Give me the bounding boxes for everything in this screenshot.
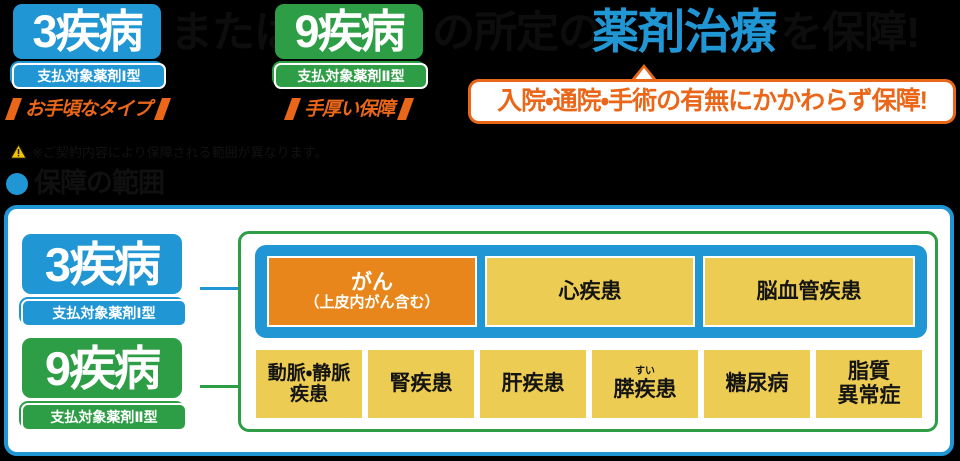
diagram-badge-nine-unit: 疾病 bbox=[69, 345, 159, 392]
disease-cell-artery-vein-main: 動脈・静脈 bbox=[268, 363, 350, 384]
headline-tail-before: の所定の bbox=[432, 12, 600, 55]
headline-pill-nine: 支払対象薬剤Ⅱ型 bbox=[274, 63, 428, 89]
disease-cell-kidney-main: 腎疾患 bbox=[390, 372, 453, 396]
headline-caption-three: お手頃なタイプ bbox=[8, 96, 168, 122]
headline-badge-three-unit: 疾病 bbox=[56, 9, 142, 54]
headline-caption-nine: 手厚い保障 bbox=[278, 96, 420, 122]
disease-cell-cerebrovascular: 脳血管疾患 bbox=[703, 256, 915, 327]
disease-cell-pancreas-ruby: すい bbox=[635, 367, 655, 377]
slash-right-icon bbox=[154, 98, 171, 120]
slash-right-icon bbox=[397, 98, 414, 120]
disease-cell-kidney: 腎疾患 bbox=[368, 350, 474, 418]
section-title: 保障の範囲 bbox=[34, 170, 164, 197]
callout-box: 入院・通院・手術の有無にかかわらず保障! bbox=[468, 79, 956, 124]
disease-cell-diabetes-main: 糖尿病 bbox=[726, 372, 789, 396]
disease-cell-diabetes: 糖尿病 bbox=[704, 350, 810, 418]
disease-cell-pancreas: すい 膵疾患 bbox=[592, 350, 698, 418]
bullet-icon bbox=[6, 173, 28, 195]
disease-cell-liver: 肝疾患 bbox=[480, 350, 586, 418]
diagram-badge-nine-number: 9 bbox=[45, 345, 69, 392]
headline-caption-nine-label: 手厚い保障 bbox=[304, 100, 394, 119]
headline-badge-three: 3疾病 bbox=[13, 4, 161, 59]
headline-pill-three-label: 支払対象薬剤Ⅰ型 bbox=[37, 69, 140, 83]
headline-caption-three-label: お手頃なタイプ bbox=[25, 100, 151, 119]
disease-cell-artery-vein-sub: 疾患 bbox=[290, 384, 328, 405]
diagram-pill-three-label: 支払対象薬剤Ⅰ型 bbox=[52, 306, 155, 320]
infographic-root: 3疾病 支払対象薬剤Ⅰ型 お手頃なタイプ または 9疾病 支払対象薬剤Ⅱ型 手厚… bbox=[0, 0, 960, 461]
warning-icon bbox=[10, 144, 27, 159]
headline-tail-after: を保障! bbox=[780, 12, 919, 55]
diagram-badge-nine: 9疾病 bbox=[22, 338, 182, 398]
disease-cell-dyslipidemia-sub: 異常症 bbox=[838, 384, 901, 408]
headline-badge-nine-unit: 疾病 bbox=[318, 9, 404, 54]
note-line: ※ご契約内容により保障される範囲が異なります。 bbox=[10, 142, 327, 161]
disease-cell-cancer: がん （上皮内がん含む） bbox=[267, 256, 477, 327]
headline-pill-three-outer: 支払対象薬剤Ⅰ型 bbox=[10, 61, 164, 87]
disease-cell-heart-main: 心疾患 bbox=[559, 280, 622, 304]
disease-cell-cancer-main: がん bbox=[351, 271, 393, 295]
headline-pill-three: 支払対象薬剤Ⅰ型 bbox=[12, 63, 166, 89]
headline-badge-nine: 9疾病 bbox=[275, 4, 423, 59]
diagram-badge-three-unit: 疾病 bbox=[69, 241, 159, 288]
disease-cell-liver-main: 肝疾患 bbox=[502, 372, 565, 396]
headline-tail-highlight: 薬剤治療 bbox=[592, 8, 776, 55]
diagram-pill-nine: 支払対象薬剤Ⅱ型 bbox=[21, 403, 187, 431]
disease-cell-cancer-sub: （上皮内がん含む） bbox=[304, 295, 439, 312]
disease-cell-cerebrovascular-main: 脳血管疾患 bbox=[757, 280, 862, 304]
callout-text: 入院・通院・手術の有無にかかわらず保障! bbox=[497, 89, 927, 114]
disease-cell-pancreas-main: 膵疾患 bbox=[614, 378, 677, 402]
section-heading: 保障の範囲 bbox=[6, 170, 164, 197]
slash-left-icon bbox=[284, 98, 301, 120]
disease-cell-artery-vein: 動脈・静脈 疾患 bbox=[256, 350, 362, 418]
diagram-pill-nine-outer: 支払対象薬剤Ⅱ型 bbox=[19, 401, 185, 429]
slash-left-icon bbox=[5, 98, 22, 120]
note-text: ※ご契約内容により保障される範囲が異なります。 bbox=[32, 142, 327, 161]
headline-badge-three-number: 3 bbox=[32, 9, 55, 54]
diagram-badge-three: 3疾病 bbox=[22, 234, 182, 294]
disease-cell-dyslipidemia-main: 脂質 bbox=[848, 360, 890, 384]
diagram-badge-three-number: 3 bbox=[45, 241, 69, 288]
headline-pill-nine-outer: 支払対象薬剤Ⅱ型 bbox=[272, 61, 426, 87]
headline-pill-nine-label: 支払対象薬剤Ⅱ型 bbox=[297, 69, 404, 83]
disease-cell-dyslipidemia: 脂質 異常症 bbox=[816, 350, 922, 418]
diagram-pill-three-outer: 支払対象薬剤Ⅰ型 bbox=[19, 297, 185, 325]
headline-badge-nine-number: 9 bbox=[294, 9, 317, 54]
disease-cell-heart: 心疾患 bbox=[485, 256, 695, 327]
diagram-pill-nine-label: 支払対象薬剤Ⅱ型 bbox=[50, 410, 157, 424]
diagram-pill-three: 支払対象薬剤Ⅰ型 bbox=[21, 299, 187, 327]
